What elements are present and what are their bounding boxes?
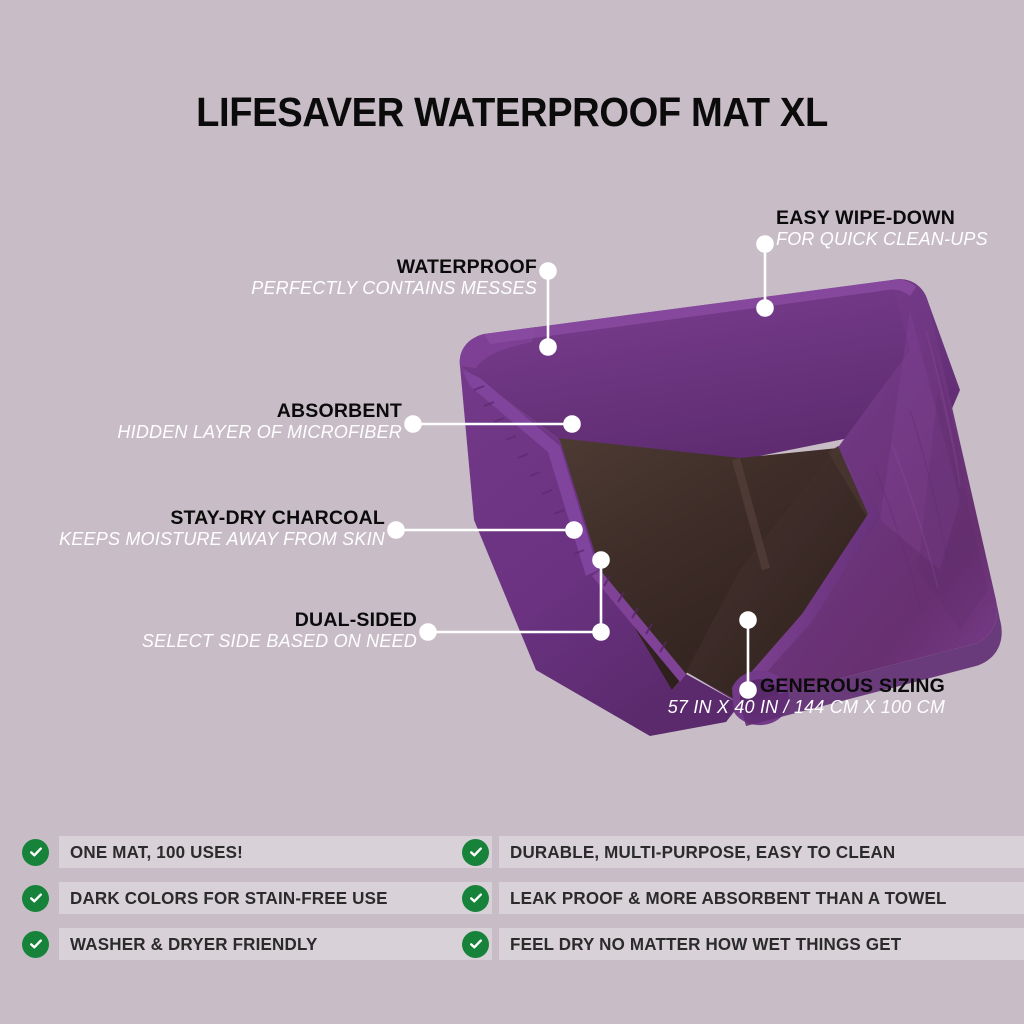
feature-text: LEAK PROOF & MORE ABSORBENT THAN A TOWEL <box>510 888 947 909</box>
callout-subtitle: KEEPS MOISTURE AWAY FROM SKIN <box>59 529 385 550</box>
infographic-canvas: LIFESAVER WATERPROOF MAT XL <box>0 0 1024 1024</box>
feature-text: DURABLE, MULTI-PURPOSE, EASY TO CLEAN <box>510 842 895 863</box>
page-title: LIFESAVER WATERPROOF MAT XL <box>36 89 988 136</box>
callout-dual-sided: DUAL-SIDED SELECT SIDE BASED ON NEED <box>142 610 417 652</box>
feature-text: FEEL DRY NO MATTER HOW WET THINGS GET <box>510 934 901 955</box>
list-item: WASHER & DRYER FRIENDLY <box>22 925 492 963</box>
feature-bar: DARK COLORS FOR STAIN-FREE USE <box>59 882 492 914</box>
callout-title: STAY-DRY CHARCOAL <box>59 508 385 529</box>
callout-subtitle: SELECT SIDE BASED ON NEED <box>142 631 417 652</box>
feature-bar: DURABLE, MULTI-PURPOSE, EASY TO CLEAN <box>499 836 1024 868</box>
check-circle-icon <box>22 931 49 958</box>
check-circle-icon <box>22 839 49 866</box>
callout-stay-dry-charcoal: STAY-DRY CHARCOAL KEEPS MOISTURE AWAY FR… <box>59 508 385 550</box>
feature-bar: WASHER & DRYER FRIENDLY <box>59 928 492 960</box>
callout-subtitle: FOR QUICK CLEAN-UPS <box>776 229 988 250</box>
check-circle-icon <box>462 885 489 912</box>
list-item: ONE MAT, 100 USES! <box>22 833 492 871</box>
feature-text: ONE MAT, 100 USES! <box>70 842 243 863</box>
feature-bar: ONE MAT, 100 USES! <box>59 836 492 868</box>
feature-column-left: ONE MAT, 100 USES! DARK COLORS FOR STAIN… <box>22 833 492 971</box>
callout-subtitle: HIDDEN LAYER OF MICROFIBER <box>117 422 402 443</box>
feature-list: ONE MAT, 100 USES! DARK COLORS FOR STAIN… <box>22 833 1010 973</box>
callout-easy-wipe-down: EASY WIPE-DOWN FOR QUICK CLEAN-UPS <box>776 208 988 250</box>
callout-subtitle: PERFECTLY CONTAINS MESSES <box>251 278 537 299</box>
callout-title: EASY WIPE-DOWN <box>776 208 988 229</box>
callout-waterproof: WATERPROOF PERFECTLY CONTAINS MESSES <box>251 257 537 299</box>
callout-title: DUAL-SIDED <box>142 610 417 631</box>
list-item: LEAK PROOF & MORE ABSORBENT THAN A TOWEL <box>462 879 1024 917</box>
check-circle-icon <box>22 885 49 912</box>
list-item: DURABLE, MULTI-PURPOSE, EASY TO CLEAN <box>462 833 1024 871</box>
check-circle-icon <box>462 839 489 866</box>
callout-title: WATERPROOF <box>251 257 537 278</box>
feature-text: WASHER & DRYER FRIENDLY <box>70 934 317 955</box>
feature-text: DARK COLORS FOR STAIN-FREE USE <box>70 888 388 909</box>
feature-column-right: DURABLE, MULTI-PURPOSE, EASY TO CLEAN LE… <box>462 833 1024 971</box>
callout-subtitle: 57 IN X 40 IN / 144 CM X 100 CM <box>668 697 945 718</box>
product-image <box>440 270 1024 740</box>
list-item: FEEL DRY NO MATTER HOW WET THINGS GET <box>462 925 1024 963</box>
callout-generous-sizing: GENEROUS SIZING 57 IN X 40 IN / 144 CM X… <box>760 676 945 697</box>
callout-title: GENEROUS SIZING <box>760 676 945 697</box>
feature-bar: LEAK PROOF & MORE ABSORBENT THAN A TOWEL <box>499 882 1024 914</box>
callout-title: ABSORBENT <box>117 401 402 422</box>
feature-bar: FEEL DRY NO MATTER HOW WET THINGS GET <box>499 928 1024 960</box>
check-circle-icon <box>462 931 489 958</box>
callout-absorbent: ABSORBENT HIDDEN LAYER OF MICROFIBER <box>117 401 402 443</box>
list-item: DARK COLORS FOR STAIN-FREE USE <box>22 879 492 917</box>
